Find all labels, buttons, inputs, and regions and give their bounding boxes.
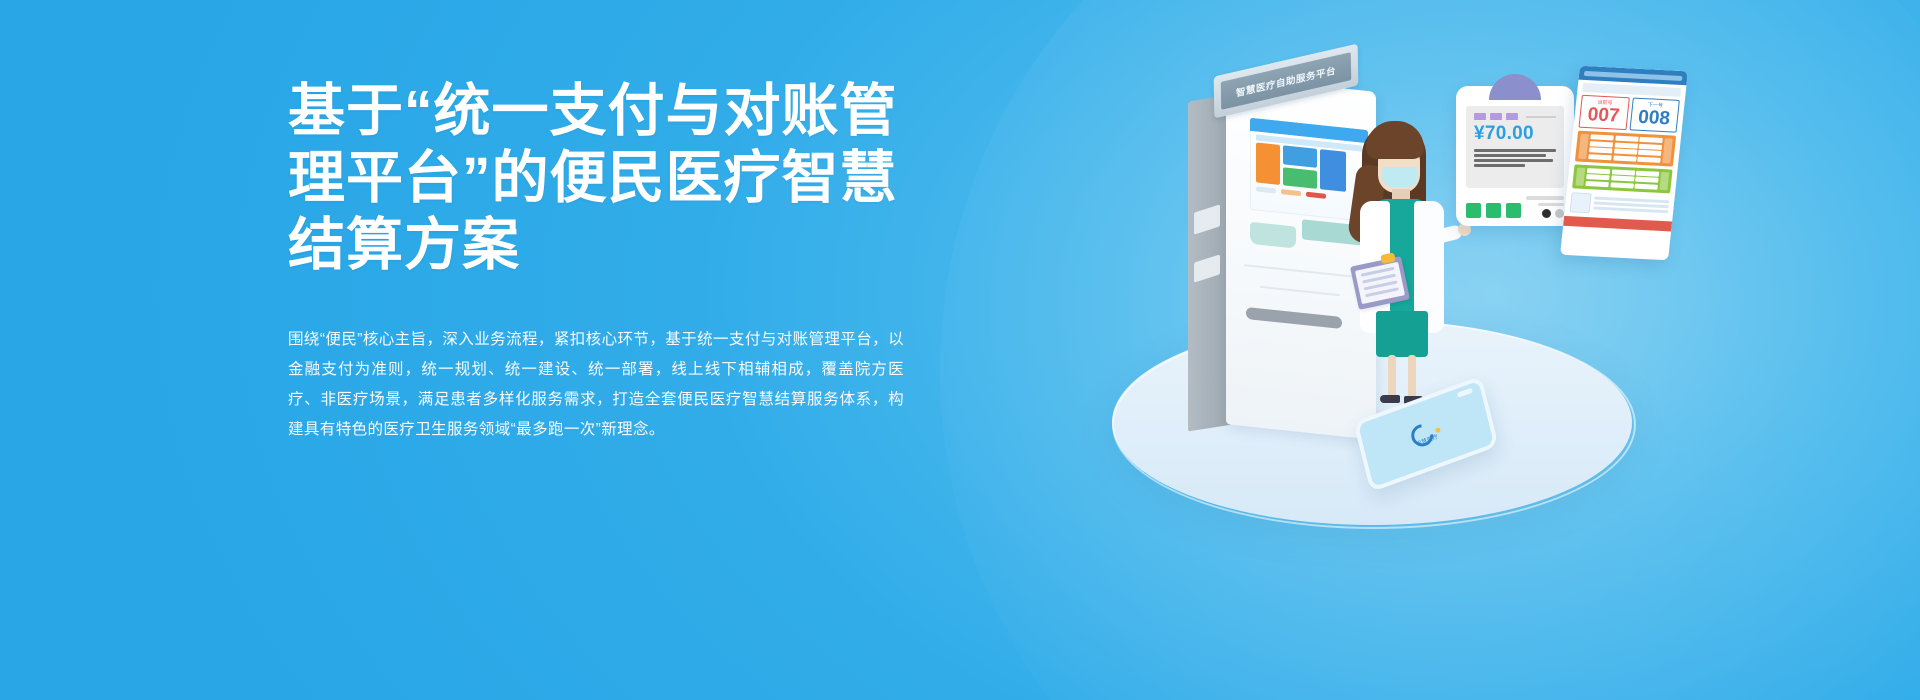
queue-table-grid — [1588, 134, 1663, 162]
queue-doctor-info — [1570, 192, 1670, 217]
kiosk-tile-record — [1283, 145, 1317, 168]
receipt-buttons[interactable] — [1542, 209, 1564, 218]
queue-cell — [1590, 141, 1614, 147]
doctor-leg-right — [1408, 355, 1416, 399]
doctor-hair-top — [1366, 121, 1424, 159]
queue-display-board: 当前号 007 下一号 008 — [1560, 66, 1688, 261]
receipt-amount: ¥70.00 — [1466, 120, 1564, 145]
queue-cell — [1639, 137, 1663, 143]
queue-table-side-label — [1662, 138, 1673, 163]
banner-copy: 基于“统一支付与对账管 理平台”的便民医疗智慧 结算方案 围绕“便民”核心主旨，… — [288, 78, 904, 445]
queue-cell — [1613, 155, 1637, 161]
receipt-line — [1474, 149, 1556, 152]
queue-table-side-label — [1578, 134, 1589, 159]
phone-notch — [1457, 388, 1473, 398]
receipt-device-footer — [1466, 196, 1564, 218]
kiosk-footer-chip-2 — [1281, 189, 1301, 196]
queue-cell — [1614, 142, 1638, 148]
queue-cell — [1586, 174, 1610, 180]
receipt-line — [1474, 154, 1546, 157]
queue-board-header — [1578, 66, 1687, 86]
queue-cell — [1611, 175, 1635, 181]
payment-receipt-device: ¥70.00 — [1456, 86, 1574, 226]
queue-current-number: 007 — [1580, 105, 1627, 126]
queue-cell — [1637, 156, 1661, 162]
doctor-figure — [1340, 115, 1460, 410]
kiosk-banner-text: 智慧医疗自助服务平台 — [1236, 63, 1336, 100]
receipt-line — [1474, 159, 1553, 162]
queue-cell — [1587, 168, 1611, 174]
queue-number-cards: 当前号 007 下一号 008 — [1578, 95, 1679, 133]
avatar — [1570, 192, 1592, 213]
receipt-control-bar — [1538, 203, 1564, 206]
kiosk-tile-column — [1283, 145, 1317, 189]
kiosk-tray-left — [1250, 222, 1296, 249]
kiosk-tile-registration — [1256, 142, 1280, 185]
queue-cell — [1638, 150, 1662, 156]
queue-board-ticker — [1563, 215, 1672, 231]
queue-cell — [1635, 177, 1659, 183]
kiosk-footer-chip-1 — [1256, 186, 1276, 193]
queue-next-card: 下一号 008 — [1629, 97, 1680, 132]
doctor-face-mask — [1382, 167, 1418, 187]
queue-table-green — [1572, 164, 1673, 193]
queue-table-orange — [1575, 131, 1676, 166]
hero-illustration: 智慧医疗自助服务平台 — [1090, 20, 1650, 580]
queue-cell — [1639, 143, 1663, 149]
app-logo-icon — [1408, 419, 1444, 450]
kiosk-side-vent-1 — [1194, 204, 1220, 234]
doctor-leg-left — [1388, 355, 1396, 399]
queue-board-title-bar — [1584, 70, 1683, 80]
kiosk-tile-report — [1283, 167, 1317, 189]
queue-cell — [1610, 182, 1634, 188]
receipt-text-lines — [1466, 145, 1564, 167]
queue-table-side-label — [1575, 167, 1585, 185]
clipboard-paper — [1355, 262, 1405, 304]
receipt-device-cap — [1489, 74, 1541, 100]
receipt-chip — [1474, 113, 1486, 120]
queue-cell — [1615, 136, 1639, 142]
receipt-keypad-key[interactable] — [1486, 203, 1501, 218]
receipt-chip — [1506, 113, 1518, 120]
doctor-skirt — [1376, 311, 1428, 357]
kiosk-footer-chip-3 — [1306, 192, 1326, 199]
receipt-button-primary[interactable] — [1542, 209, 1551, 218]
receipt-line — [1474, 164, 1525, 167]
receipt-controls — [1526, 196, 1564, 218]
receipt-keypad-key[interactable] — [1466, 203, 1481, 218]
queue-cell — [1611, 169, 1635, 175]
receipt-header-chips — [1466, 106, 1564, 120]
queue-cell — [1588, 154, 1612, 160]
queue-current-card: 当前号 007 — [1578, 95, 1629, 130]
queue-cell — [1613, 148, 1637, 154]
receipt-chip — [1490, 113, 1502, 120]
queue-doctor-text — [1593, 193, 1670, 217]
kiosk-side-vent-2 — [1194, 254, 1220, 282]
hero-banner: 基于“统一支付与对账管 理平台”的便民医疗智慧 结算方案 围绕“便民”核心主旨，… — [0, 0, 1920, 700]
banner-description: 围绕“便民”核心主旨，深入业务流程，紧扣核心环节，基于统一支付与对账管理平台，以… — [288, 325, 904, 445]
receipt-screen: ¥70.00 — [1466, 106, 1564, 188]
queue-next-number: 008 — [1630, 107, 1677, 128]
receipt-dotted-rule — [1526, 116, 1556, 118]
queue-cell — [1590, 134, 1614, 140]
queue-cell — [1634, 183, 1658, 189]
page-title: 基于“统一支付与对账管 理平台”的便民医疗智慧 结算方案 — [288, 78, 904, 279]
doctor-shoe-left — [1380, 395, 1400, 403]
receipt-control-bar — [1526, 196, 1564, 200]
receipt-keypad-key[interactable] — [1506, 203, 1521, 218]
queue-table-grid — [1585, 168, 1659, 190]
receipt-button-secondary[interactable] — [1555, 209, 1564, 218]
queue-table-side-label — [1659, 171, 1669, 189]
queue-cell — [1636, 170, 1660, 176]
queue-cell — [1589, 147, 1613, 153]
queue-cell — [1585, 181, 1609, 187]
